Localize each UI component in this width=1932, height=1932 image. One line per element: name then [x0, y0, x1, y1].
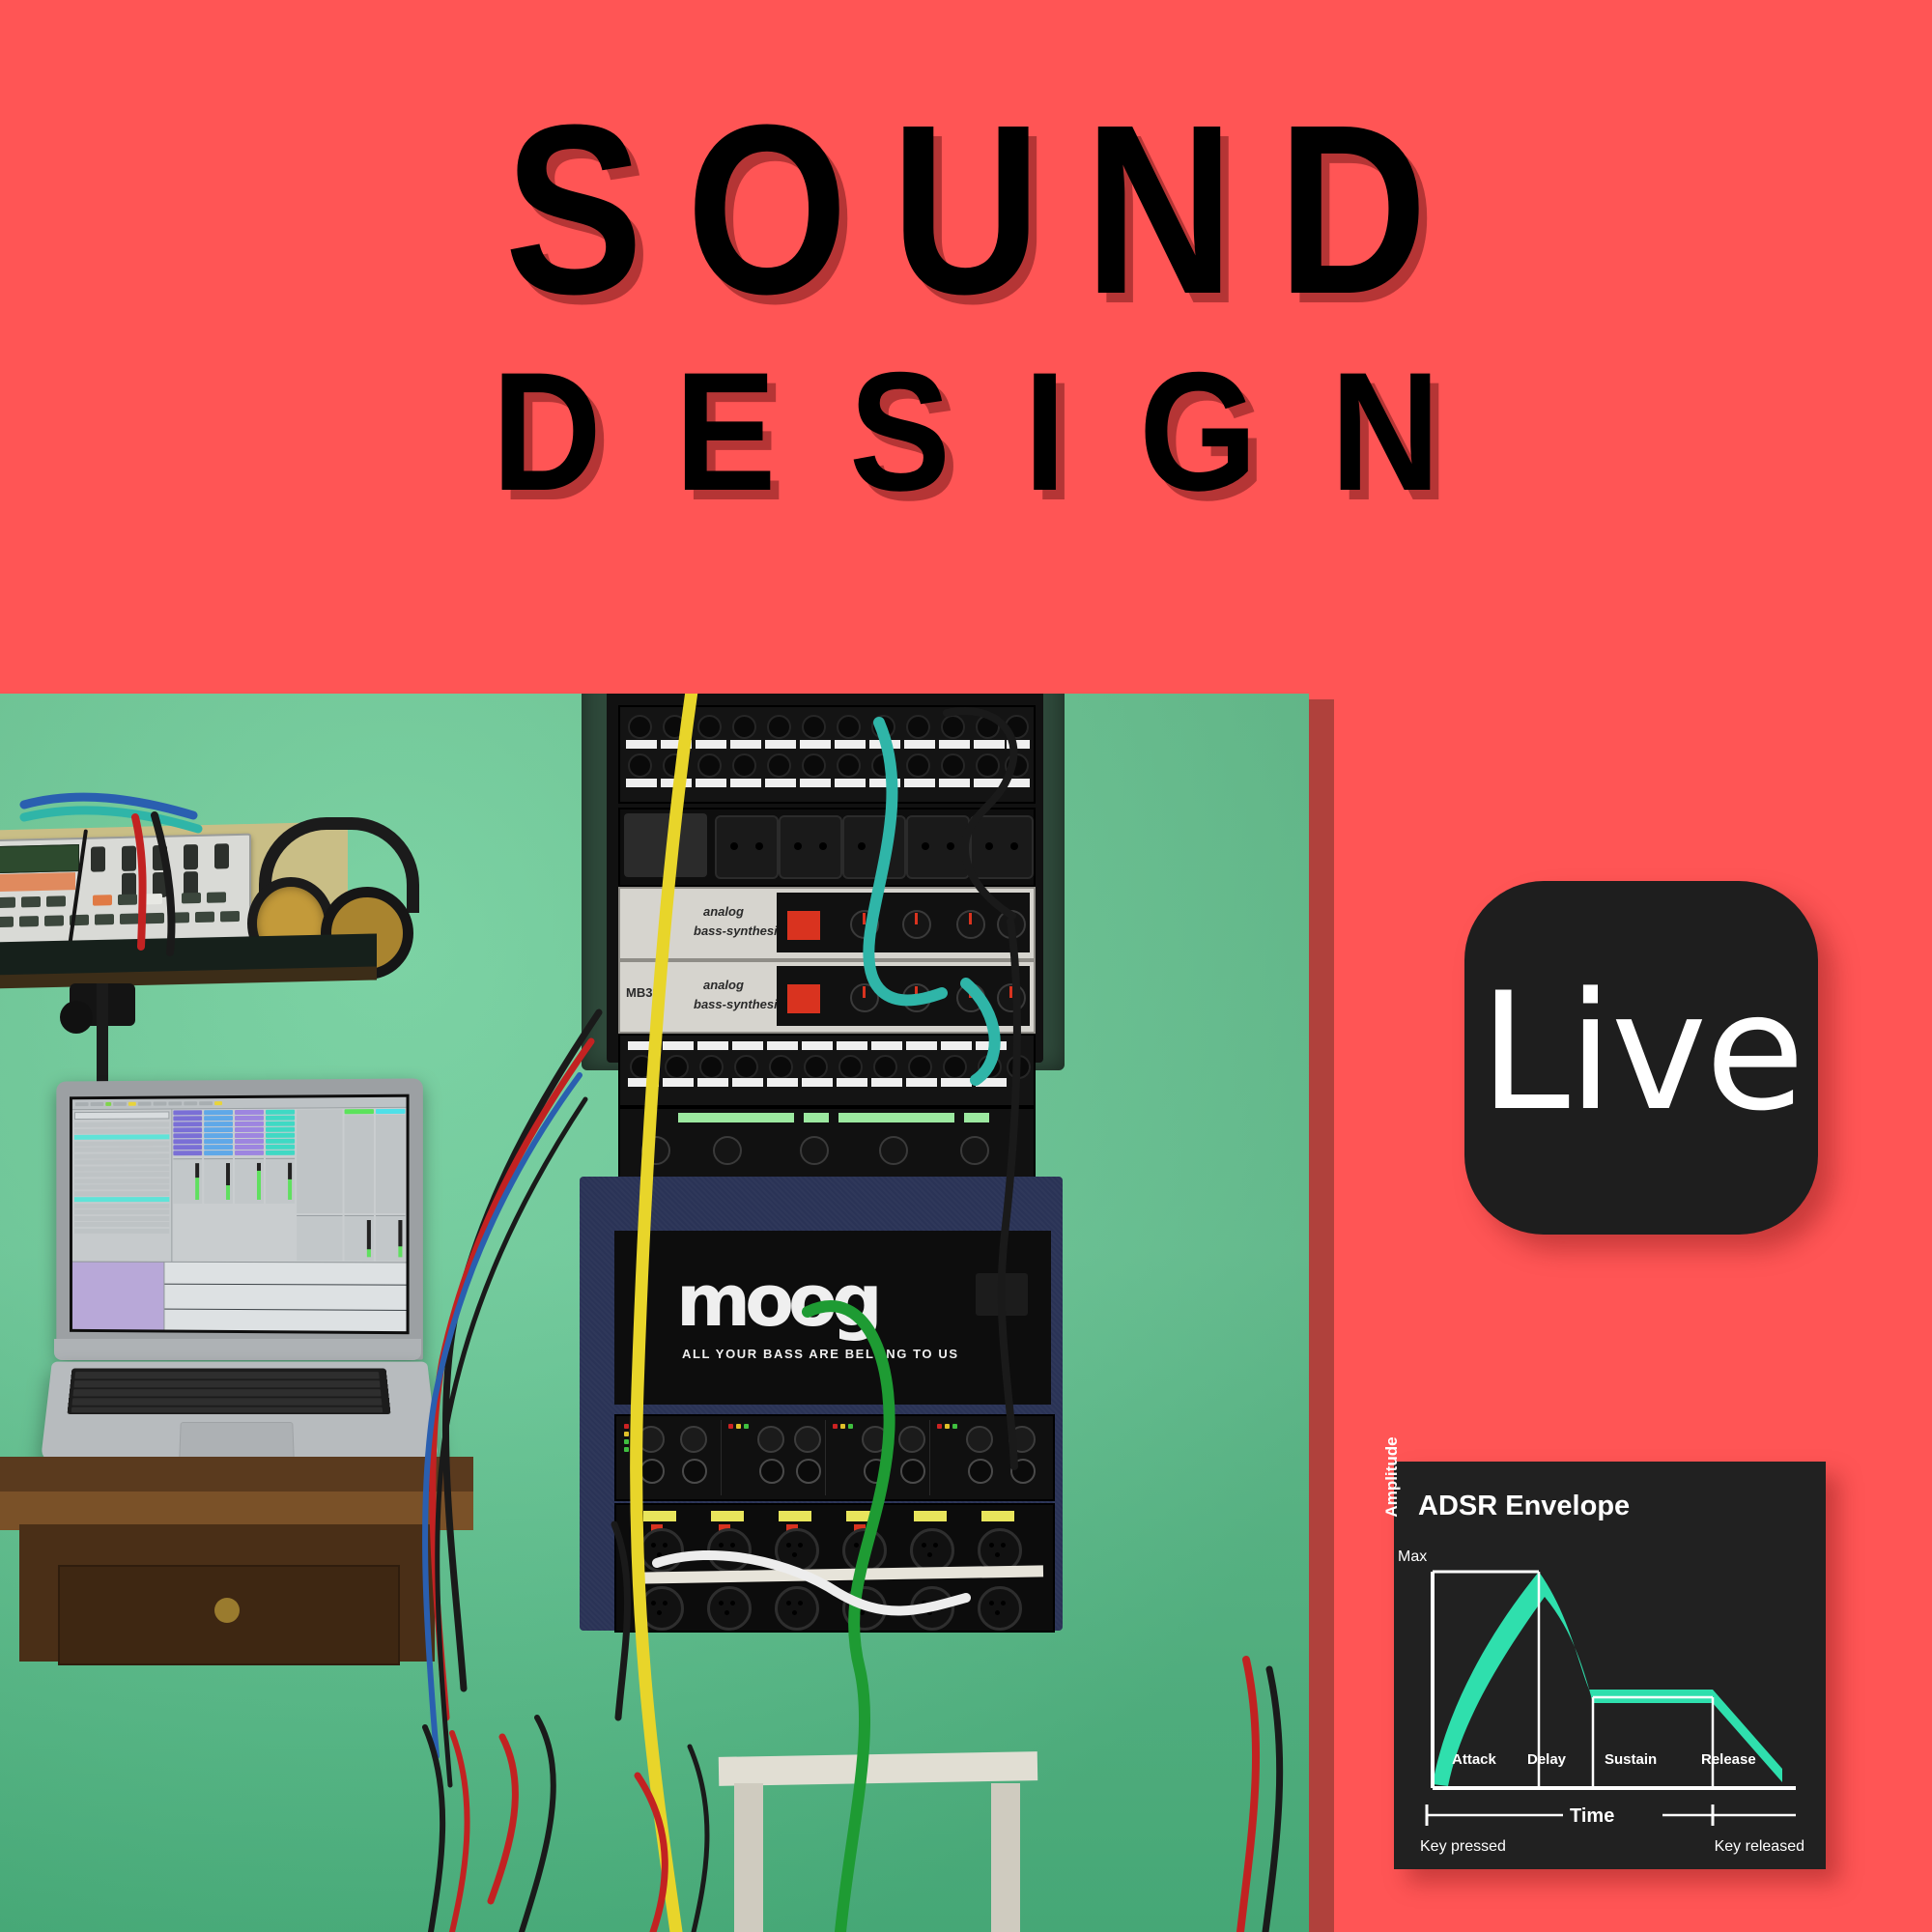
- adsr-segment-attack: Attack: [1452, 1751, 1496, 1768]
- adsr-segment-sustain: Sustain: [1605, 1751, 1657, 1768]
- synth-model-name: MB33: [626, 985, 660, 1000]
- page-title-line-2: DESIGN: [97, 348, 1835, 517]
- ableton-session-view: [172, 1108, 406, 1263]
- adsr-segment-release: Release: [1701, 1751, 1756, 1768]
- bass-synth-unit-1: analog bass-synthesizer: [618, 887, 1036, 960]
- patchbay-unit: [618, 705, 1036, 804]
- lower-patchbay: [618, 1034, 1036, 1107]
- bass-synth-unit-2: MB33 analog bass-synthesizer: [618, 960, 1036, 1034]
- adsr-chart-title: ADSR Envelope: [1418, 1491, 1630, 1522]
- laptop-keyboard: [67, 1369, 390, 1415]
- moog-logo: moog: [676, 1260, 877, 1343]
- ableton-live-app-icon[interactable]: Live: [1464, 881, 1818, 1235]
- drawer-knob: [214, 1598, 240, 1623]
- title-block: SOUND DESIGN: [0, 0, 1932, 694]
- ableton-device-rack: [72, 1263, 164, 1330]
- laptop-lid: [56, 1078, 423, 1359]
- adsr-key-pressed-label: Key pressed: [1420, 1838, 1506, 1856]
- synth-label-analog: analog: [703, 902, 744, 922]
- mixer-unit: [614, 1414, 1055, 1501]
- photo-drop-shadow: [1309, 699, 1334, 1932]
- adsr-y-axis-label: Amplitude: [1382, 1400, 1402, 1554]
- moog-tagline: ALL YOUR BASS ARE BELONG TO US: [682, 1347, 959, 1361]
- macbook-laptop: [46, 1080, 433, 1495]
- adsr-segment-delay: Delay: [1527, 1751, 1566, 1768]
- studio-photo: analog bass-synthesizer MB33 analog bass…: [0, 694, 1309, 1932]
- adsr-envelope-card: ADSR Envelope Max Amplitude Attack Delay…: [1394, 1462, 1826, 1869]
- groovebox-label-strip: [0, 872, 75, 892]
- ableton-arrangement: [72, 1262, 407, 1332]
- rack-power-strip: [618, 808, 1036, 887]
- studio-headphones: [249, 817, 404, 952]
- live-logo-label: Live: [1479, 971, 1803, 1133]
- laptop-lid-chin: [54, 1339, 421, 1360]
- poster-canvas: SOUND DESIGN: [0, 0, 1932, 1932]
- mic-stand-knob: [60, 1001, 93, 1034]
- stool-top: [719, 1751, 1037, 1786]
- adsr-x-axis-label: Time: [1570, 1805, 1614, 1828]
- stool-leg-left: [734, 1783, 763, 1932]
- adsr-key-released-label: Key released: [1715, 1838, 1804, 1856]
- synth-label-analog-2: analog: [703, 976, 744, 995]
- ableton-live-ui: [72, 1097, 407, 1331]
- ableton-browser: [72, 1109, 172, 1261]
- page-title-line-1: SOUND: [135, 89, 1797, 330]
- upper-mixer-strip: [618, 1107, 1036, 1179]
- groovebox-drum-machine: [0, 834, 251, 947]
- moog-vent: [976, 1273, 1028, 1316]
- laptop-trackpad: [179, 1422, 294, 1459]
- ableton-waveform: [164, 1263, 406, 1331]
- laptop-screen: [70, 1094, 410, 1335]
- groovebox-screen: [0, 844, 79, 873]
- stool-leg-right: [991, 1783, 1020, 1932]
